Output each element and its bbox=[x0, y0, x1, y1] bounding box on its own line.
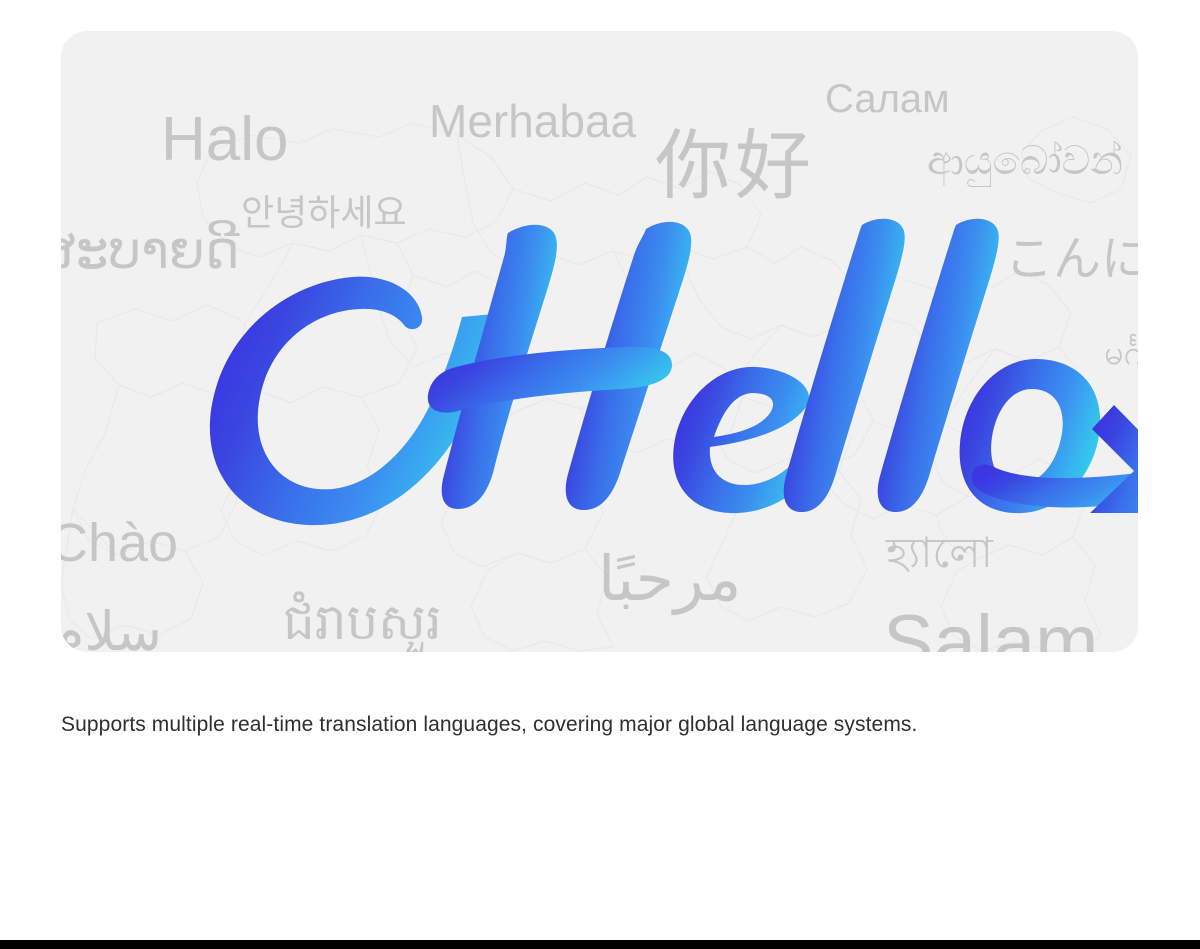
greeting-salam-arabic: سلام bbox=[61, 605, 162, 652]
greeting-konnichiwa: こんにちは bbox=[1005, 236, 1138, 284]
greeting-salam-latin: Salam bbox=[883, 605, 1098, 652]
card-caption: Supports multiple real-time translation … bbox=[61, 710, 1141, 740]
language-hero-card: Halo Merhabaa 你好 Салам ආයුබෝවන් 안녕하세요 ສະ… bbox=[61, 31, 1138, 652]
hello-wordmark bbox=[156, 217, 1138, 527]
page-bottom-bar bbox=[0, 940, 1200, 949]
greeting-marhaban: مرحبًا bbox=[598, 549, 741, 611]
greeting-mingalaba: မင်္ဂလာပါ bbox=[1104, 336, 1138, 370]
page-root: Halo Merhabaa 你好 Салам ආයුබෝවන් 안녕하세요 ສະ… bbox=[0, 0, 1200, 949]
greeting-annyeonghaseyo: 안녕하세요 bbox=[241, 195, 407, 231]
greeting-chao: Chào bbox=[61, 516, 178, 570]
greeting-ni-hao: 你好 bbox=[655, 129, 815, 205]
greeting-sabaidee: ສະບາຍດີ bbox=[61, 225, 240, 277]
greeting-salam-cyrillic: Салам bbox=[825, 79, 950, 119]
greeting-merhabaa: Merhabaa bbox=[429, 98, 636, 144]
greeting-ayubowan: ආයුබෝවන් bbox=[927, 141, 1123, 181]
greeting-chumreapsuor: ជំរាបសួរ bbox=[283, 597, 442, 647]
greeting-hyalo: হ্যালো bbox=[886, 532, 993, 574]
greeting-halo: Halo bbox=[161, 109, 289, 171]
